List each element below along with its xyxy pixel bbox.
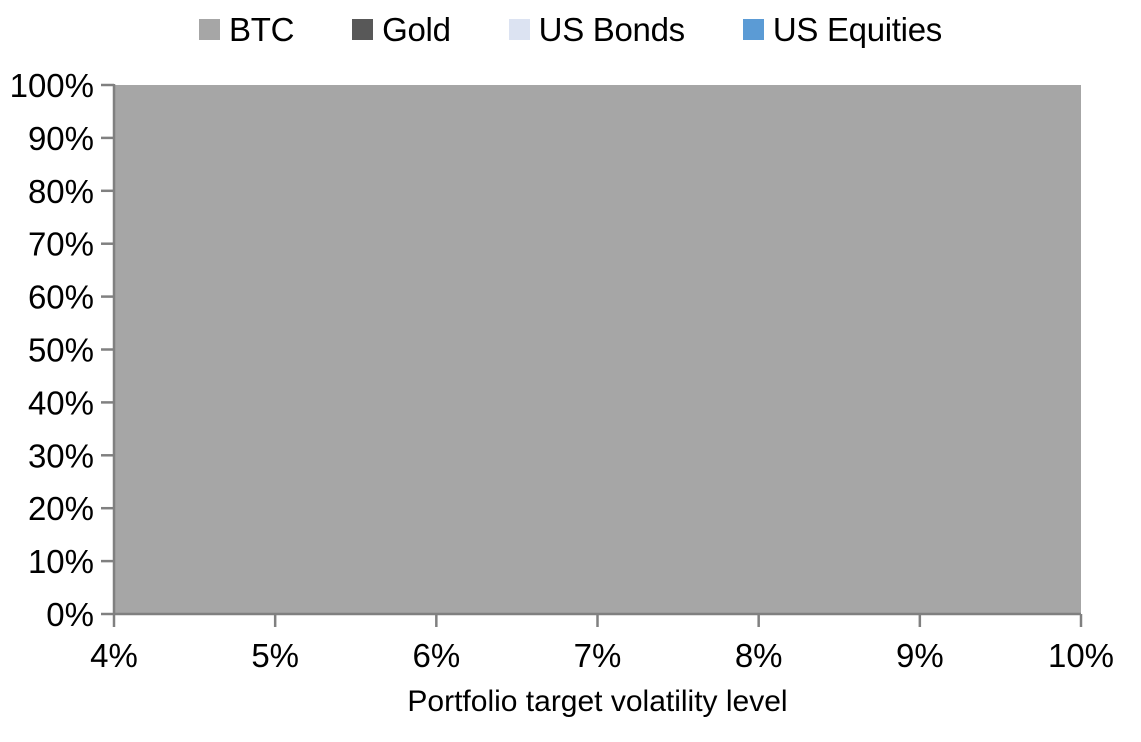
plot-area-container: 0%10%20%30%40%50%60%70%80%90%100% 4%5%6%… xyxy=(0,0,1141,742)
x-axis-title: Portfolio target volatility level xyxy=(407,685,787,718)
x-axis-ticks xyxy=(114,614,1081,627)
area-series-btc xyxy=(114,85,1081,614)
y-axis-tick-label: 50% xyxy=(28,332,94,369)
chart-svg: 0%10%20%30%40%50%60%70%80%90%100% 4%5%6%… xyxy=(0,0,1141,742)
x-axis-tick-label: 6% xyxy=(412,637,460,674)
y-axis-tick-label: 40% xyxy=(28,384,94,421)
y-axis-tick-labels: 0%10%20%30%40%50%60%70%80%90%100% xyxy=(10,67,94,633)
x-axis-tick-label: 7% xyxy=(574,637,622,674)
y-axis-tick-label: 100% xyxy=(10,67,94,104)
y-axis-ticks xyxy=(101,85,114,614)
x-axis-tick-label: 8% xyxy=(735,637,783,674)
y-axis-tick-label: 60% xyxy=(28,279,94,316)
y-axis-tick-label: 30% xyxy=(28,437,94,474)
x-axis-tick-label: 5% xyxy=(251,637,299,674)
y-axis-tick-label: 90% xyxy=(28,120,94,157)
x-axis-tick-label: 9% xyxy=(896,637,944,674)
y-axis-tick-label: 70% xyxy=(28,226,94,263)
y-axis-tick-label: 20% xyxy=(28,490,94,527)
area-series-group xyxy=(114,85,1081,614)
stacked-area-chart: BTC Gold US Bonds US Equities xyxy=(0,0,1141,742)
x-axis-tick-label: 4% xyxy=(90,637,138,674)
x-axis-tick-label: 10% xyxy=(1048,637,1114,674)
y-axis-tick-label: 80% xyxy=(28,173,94,210)
y-axis-tick-label: 10% xyxy=(28,543,94,580)
y-axis-tick-label: 0% xyxy=(46,596,94,633)
x-axis-tick-labels: 4%5%6%7%8%9%10% xyxy=(90,637,1114,674)
